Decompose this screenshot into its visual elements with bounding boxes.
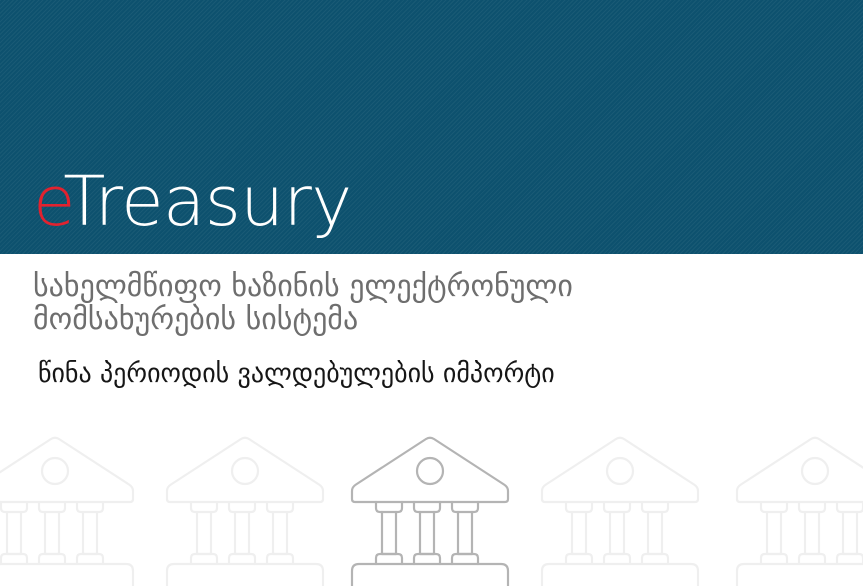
app-logo: eTreasury [33,168,352,237]
treasury-building-icon-3 [340,425,520,586]
treasury-building-icon-1 [0,425,145,586]
treasury-building-icon-2 [155,425,335,586]
treasury-building-icon-4 [530,425,710,586]
treasury-building-icon-5 [725,425,863,586]
system-subtitle: სახელმწიფო ხაზინის ელექტრონული მომსახურე… [33,270,733,336]
logo-word: Treasury [63,162,351,242]
header-band: eTreasury [0,0,863,254]
system-subtitle-line-1: სახელმწიფო ხაზინის ელექტრონული [33,270,733,303]
page-title: წინა პერიოდის ვალდებულების იმპორტი [38,359,555,389]
splash-screen: eTreasury სახელმწიფო ხაზინის ელექტრონული… [0,0,863,586]
logo-accent-letter: e [33,162,63,242]
system-subtitle-line-2: მომსახურების სისტემა [33,303,733,336]
treasury-buildings-strip [0,425,863,586]
